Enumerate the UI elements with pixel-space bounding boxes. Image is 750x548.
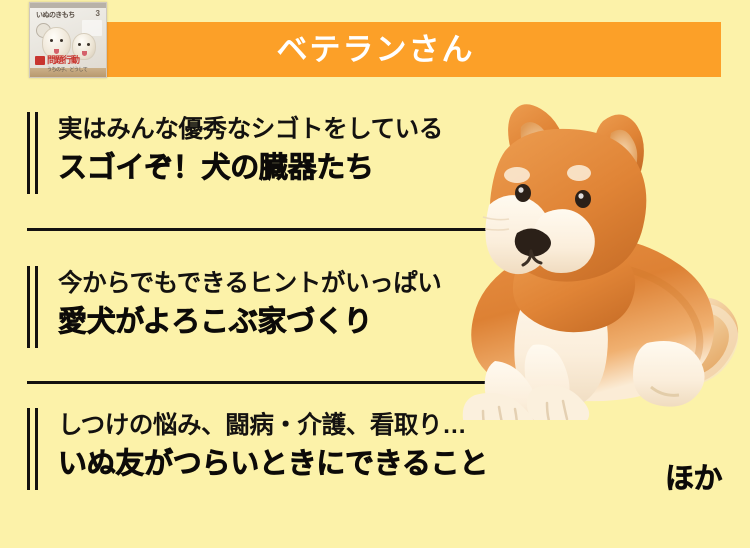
cover-issue-month: 3: [96, 9, 100, 18]
feature-subtitle: 今からでもできるヒントがいっぱい: [58, 266, 441, 302]
cover-dog-eye: [50, 39, 53, 42]
divider-2: [27, 381, 531, 384]
cover-headline: 問題行動: [47, 53, 79, 66]
feature-title: 愛犬がよろこぶ家づくり: [58, 302, 441, 342]
divider-1: [27, 228, 511, 231]
cover-dog-eye: [60, 39, 63, 42]
double-rule-icon: [27, 266, 41, 348]
feature-subtitle: 実はみんな優秀なシゴトをしている: [58, 112, 443, 148]
feature-text-1: 実はみんな優秀なシゴトをしている スゴイぞ！犬の臓器たち: [58, 112, 443, 188]
header-title: ベテランさん: [30, 22, 721, 77]
feature-text-3: しつけの悩み、闘病・介護、看取り… いぬ友がつらいときにできること: [58, 408, 488, 484]
cover-badge-box: [35, 56, 45, 65]
feature-title: いぬ友がつらいときにできること: [58, 444, 488, 484]
cover-dog-tongue: [82, 51, 87, 56]
other-label: ほか: [665, 455, 722, 497]
shiba-inu-photo: [455, 95, 750, 420]
feature-subtitle: しつけの悩み、闘病・介護、看取り…: [58, 408, 488, 444]
magazine-cover-thumbnail[interactable]: いぬのきもち 3 問題行動 うちの子、どうして: [29, 2, 107, 78]
cover-dog-eye: [78, 43, 81, 46]
cover-title: いぬのきもち: [36, 10, 75, 20]
double-rule-icon: [27, 112, 41, 194]
cover-top-band: [30, 3, 106, 8]
cover-dog-eye: [87, 43, 90, 46]
cover-subline: うちの子、どうして: [47, 66, 87, 73]
double-rule-icon: [27, 408, 41, 490]
magazine-feature-panel: ベテランさん いぬのきもち 3 問題行動 うちの子、どうして 実はみんな優秀なシ…: [0, 0, 750, 548]
feature-title: スゴイぞ！犬の臓器たち: [58, 148, 443, 188]
feature-text-2: 今からでもできるヒントがいっぱい 愛犬がよろこぶ家づくり: [58, 266, 441, 342]
